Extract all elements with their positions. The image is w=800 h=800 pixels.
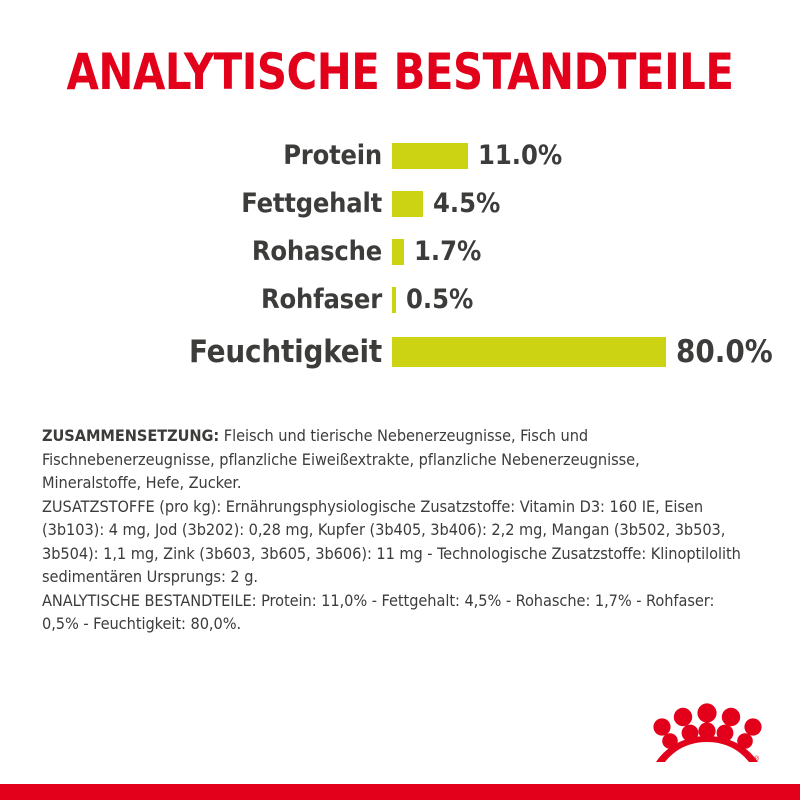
nutrition-panel: ANALYTISCHE BESTANDTEILE Protein 11.0% F…: [0, 0, 800, 800]
chart-bar: [392, 143, 468, 169]
analytical-constituents-chart: Protein 11.0% Fettgehalt 4.5% Rohasche 1…: [0, 132, 800, 380]
chart-row-value: 4.5%: [433, 189, 500, 219]
chart-row-label: Protein: [0, 141, 392, 171]
chart-row-label: Rohfaser: [0, 285, 392, 315]
chart-row-fettgehalt: Fettgehalt 4.5%: [0, 180, 800, 228]
page-title: ANALYTISCHE BESTANDTEILE: [28, 44, 772, 100]
chart-row-protein: Protein 11.0%: [0, 132, 800, 180]
chart-row-bar-group: 4.5%: [392, 189, 800, 219]
chart-row-bar-group: 1.7%: [392, 237, 800, 267]
chart-row-bar-group: 80.0%: [392, 335, 800, 369]
chart-bar: [392, 287, 396, 313]
chart-bar: [392, 337, 666, 367]
composition-ingredients-paragraph: ZUSAMMENSETZUNG: Fleisch und tierische N…: [42, 424, 742, 495]
chart-row-value: 1.7%: [414, 237, 481, 267]
royal-canin-crown-logo: ®: [650, 700, 766, 764]
chart-row-bar-group: 0.5%: [392, 285, 800, 315]
composition-analytical-paragraph: ANALYTISCHE BESTANDTEILE: Protein: 11,0%…: [42, 589, 742, 636]
composition-additives-paragraph: ZUSATZSTOFFE (pro kg): Ernährungsphysiol…: [42, 495, 742, 589]
chart-row-rohfaser: Rohfaser 0.5%: [0, 276, 800, 324]
composition-text-block: ZUSAMMENSETZUNG: Fleisch und tierische N…: [42, 424, 742, 636]
chart-row-rohasche: Rohasche 1.7%: [0, 228, 800, 276]
chart-row-label: Feuchtigkeit: [0, 335, 392, 369]
composition-lead-label: ZUSAMMENSETZUNG:: [42, 426, 219, 445]
chart-row-feuchtigkeit: Feuchtigkeit 80.0%: [0, 324, 800, 380]
chart-bar: [392, 239, 404, 265]
chart-row-value: 0.5%: [406, 285, 473, 315]
chart-row-bar-group: 11.0%: [392, 141, 800, 171]
chart-row-label: Rohasche: [0, 237, 392, 267]
registered-mark: ®: [754, 755, 760, 763]
chart-row-label: Fettgehalt: [0, 189, 392, 219]
chart-row-value: 11.0%: [478, 141, 562, 171]
chart-bar: [392, 191, 423, 217]
chart-row-value: 80.0%: [676, 335, 773, 369]
bottom-brand-band: [0, 784, 800, 800]
